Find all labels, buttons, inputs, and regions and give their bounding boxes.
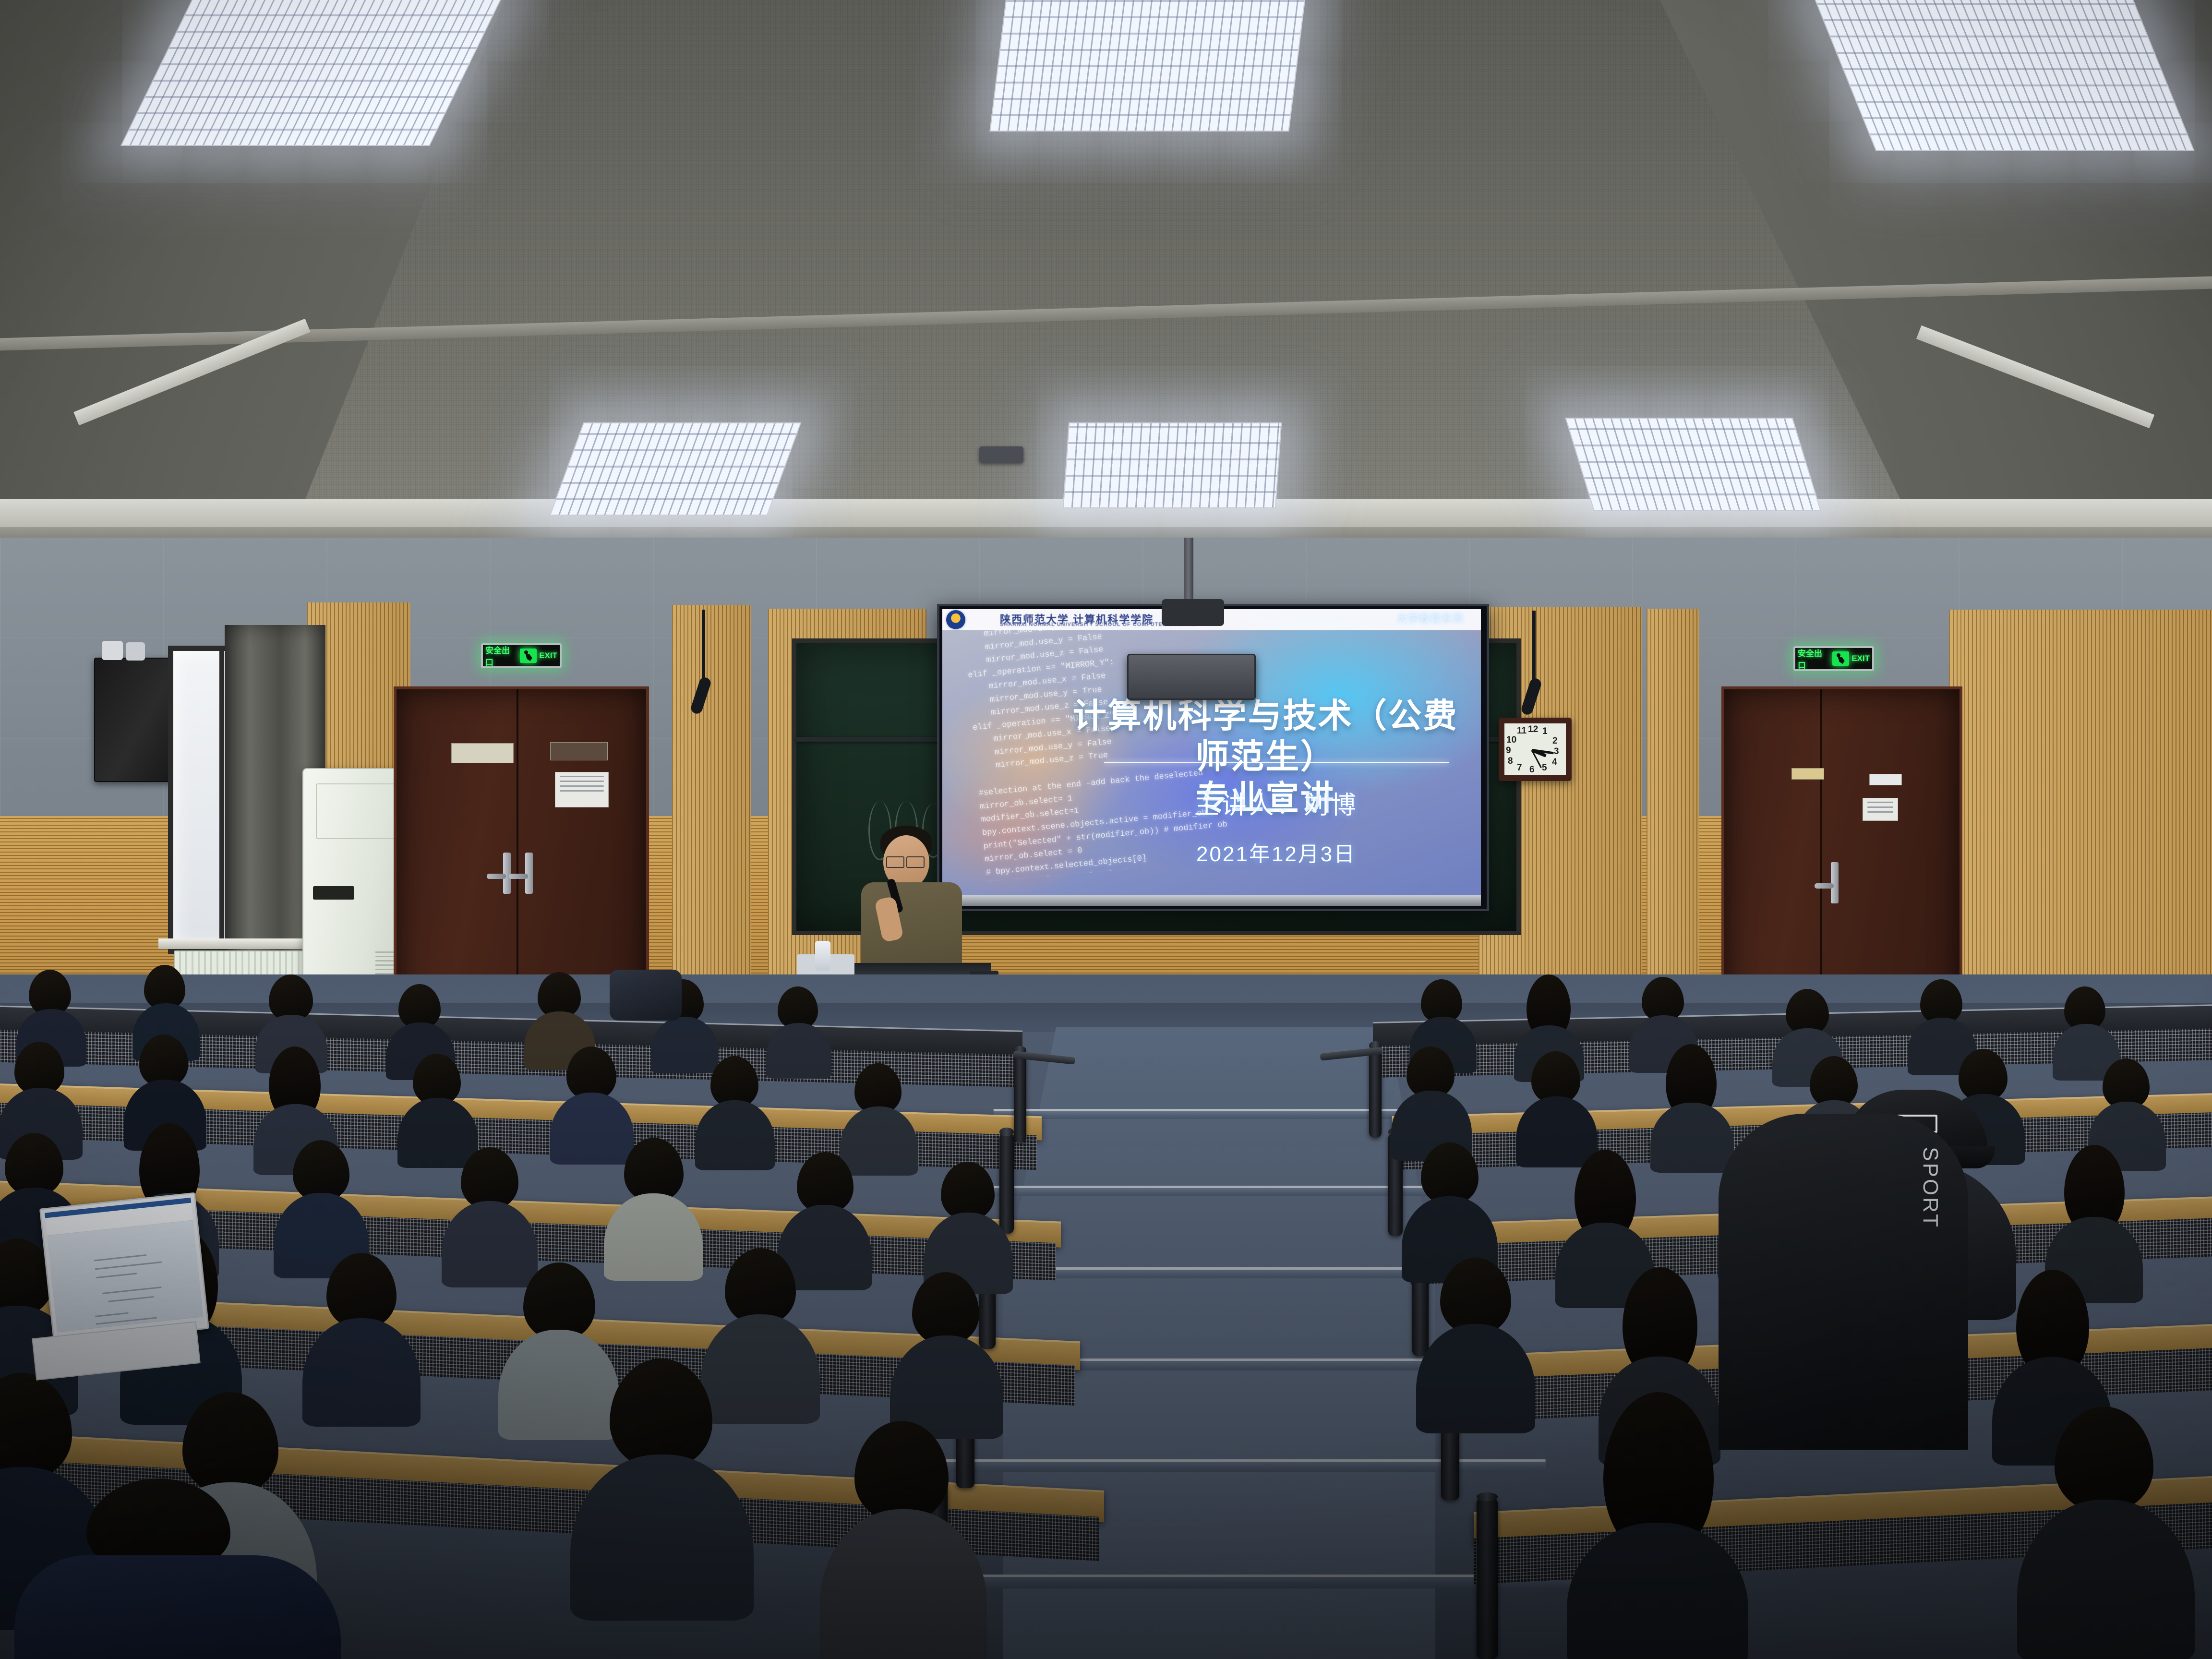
clock-num-12: 12: [1528, 724, 1538, 735]
clock-num-10: 10: [1506, 735, 1516, 745]
exit-sign-left: 安全出口 EXIT: [481, 643, 562, 668]
ceiling-light-5: [1063, 422, 1282, 508]
slide-date: 2021年12月3日: [1104, 837, 1449, 867]
door-nameplate: [451, 743, 514, 763]
exit-sign-text-cn-2: 安全出口: [1798, 647, 1830, 671]
laptop-screen: [45, 1198, 204, 1340]
ceiling-light-6: [1565, 418, 1821, 511]
ceiling-light-3: [1811, 0, 2195, 151]
jacket-brand-text: SPORT: [1918, 1147, 1942, 1229]
projector-pole: [1184, 538, 1193, 601]
door-plate-right-2: [1869, 774, 1902, 785]
projector-mount: [1162, 599, 1224, 626]
aisle-post-r1: [1369, 1046, 1382, 1138]
clock-num-9: 9: [1506, 745, 1511, 756]
projection-screen: mirror_mod.use_x = True mirror_mod.use_y…: [942, 609, 1481, 897]
exit-sign-right: 安全出口 EXIT: [1793, 646, 1874, 671]
projector: [1127, 654, 1256, 700]
slide-title-line1: 计算机科学与技术（公费师范生）: [1061, 696, 1470, 778]
running-person-icon-2: [1832, 651, 1849, 666]
projection-screen-frame: mirror_mod.use_x = True mirror_mod.use_y…: [937, 604, 1489, 911]
slide-speaker: 主讲人：刘博: [1104, 785, 1449, 821]
ac-vent: [313, 886, 354, 900]
slide-divider: [1104, 762, 1449, 763]
window-mullion: [219, 651, 224, 949]
clock-num-6: 6: [1529, 765, 1535, 775]
presenter-glasses-left: [886, 856, 904, 868]
clock-num-2: 2: [1552, 736, 1558, 746]
door-notice-right: [1863, 798, 1898, 821]
clock-num-3: 3: [1554, 746, 1559, 757]
university-logo: [946, 610, 965, 629]
door-handle-right[interactable]: [525, 853, 533, 894]
door-notice-left: [555, 772, 609, 807]
wood-pilaster-2: [672, 605, 751, 1027]
screen-bottom-bar: [942, 895, 1481, 906]
wood-pilaster-5: [1647, 609, 1699, 1027]
clock-num-4: 4: [1552, 757, 1557, 768]
door-plate-2: [550, 742, 608, 760]
clock-num-5: 5: [1542, 763, 1547, 773]
lecture-hall-photo: mirror_mod.use_x = True mirror_mod.use_y…: [0, 0, 2212, 1659]
ceiling-light-4: [550, 422, 802, 516]
water-bottle: [815, 941, 830, 971]
door-handle-left[interactable]: [503, 853, 511, 894]
clock-num-1: 1: [1542, 726, 1548, 737]
speaker-bracket-b: [126, 642, 145, 661]
clock-num-8: 8: [1508, 756, 1513, 767]
exit-sign-text-en: EXIT: [539, 651, 557, 661]
door-handle-right-2[interactable]: [1831, 862, 1839, 903]
exit-sign-text-en-2: EXIT: [1851, 654, 1870, 663]
door-plate-right: [1791, 768, 1824, 780]
aisle-post-r5: [1477, 1498, 1498, 1659]
aisle-post-l1: [1014, 1051, 1026, 1142]
ac-display-panel: [316, 783, 397, 839]
ceiling-light-2: [989, 0, 1307, 132]
audience-jacket-sport: SPORT: [1719, 1114, 1968, 1450]
exit-sign-text-cn: 安全出口: [485, 644, 517, 668]
backpack: [610, 970, 682, 1021]
hanging-microphone-cable: [702, 610, 705, 682]
wall-clock: 12 1 2 3 4 5 6 7 8 9 10 11: [1499, 718, 1572, 781]
clock-num-11: 11: [1517, 726, 1527, 736]
hanging-microphone-cable-2: [1532, 611, 1536, 683]
clock-num-7: 7: [1517, 763, 1522, 773]
speaker-bracket-a: [102, 641, 123, 660]
aisle-step-6: [897, 1575, 1575, 1588]
wood-pilaster-6: [1949, 610, 2212, 1027]
aisle-post-l2: [999, 1133, 1014, 1234]
aisle-step-1: [994, 1109, 1455, 1119]
slide-series-label: 大学教育系列: [1397, 611, 1464, 625]
presenter-glasses-right: [906, 856, 925, 868]
smoke-detector: [979, 446, 1023, 463]
running-person-icon: [520, 649, 537, 663]
